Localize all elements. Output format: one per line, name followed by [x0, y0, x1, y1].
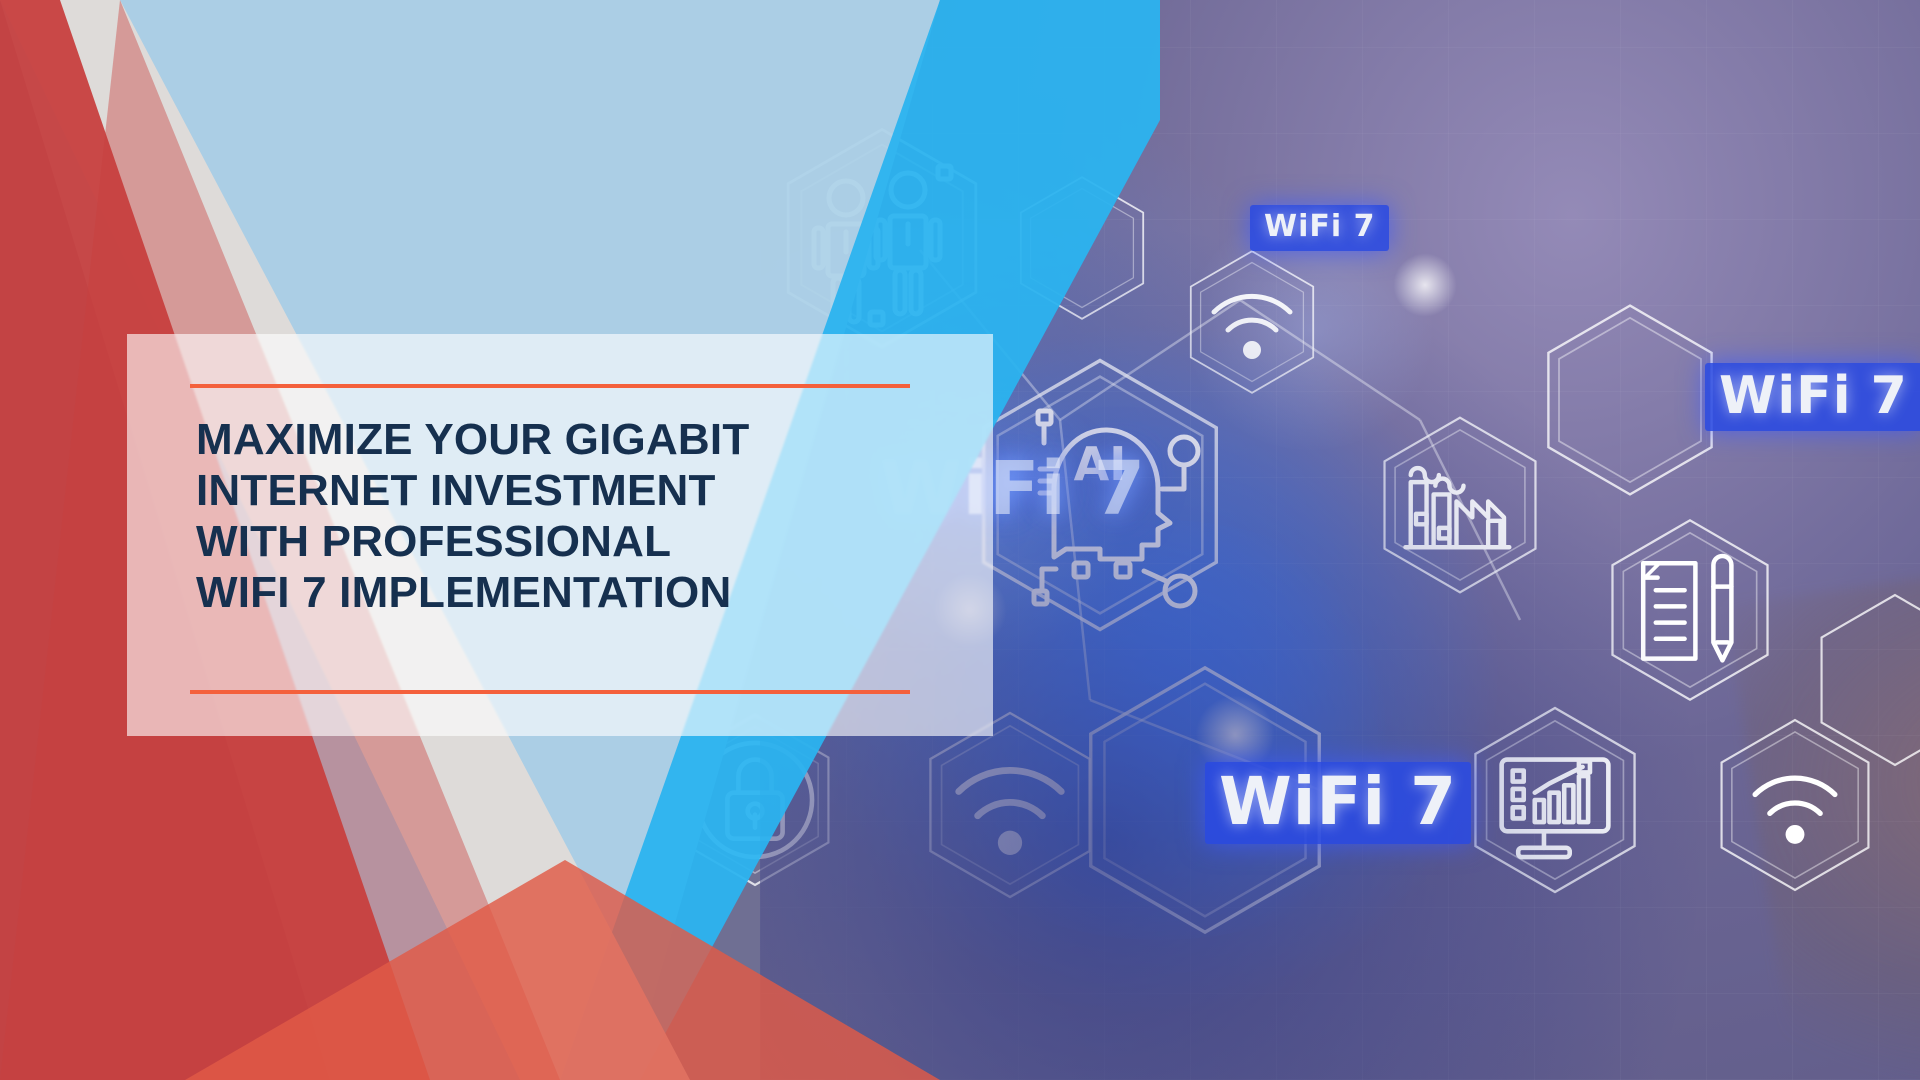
- hex-chart: [1475, 708, 1634, 892]
- hand-photo: [1727, 519, 1920, 1080]
- accent-rule-bottom: [190, 690, 910, 694]
- chart-monitor-icon: [1502, 760, 1609, 858]
- wifi7-badge-top: WiFi 7: [1250, 205, 1389, 251]
- headline-line-4: WIFI 7 IMPLEMENTATION: [196, 567, 956, 618]
- hex-wifi-signal-top: [1191, 251, 1313, 393]
- hex-document: [1612, 520, 1767, 699]
- headline-line-3: WITH PROFESSIONAL: [196, 516, 956, 567]
- document-pen-icon: [1643, 556, 1731, 660]
- wifi7-badge-main: WiFi 7: [1205, 762, 1471, 844]
- headline-line-2: INTERNET INVESTMENT: [196, 465, 956, 516]
- wifi7-badge-right: WiFi 7: [1705, 363, 1920, 431]
- factory-icon: [1405, 468, 1509, 547]
- page-title: MAXIMIZE YOUR GIGABIT INTERNET INVESTMEN…: [196, 414, 956, 618]
- banner-canvas: AI: [0, 0, 1920, 1080]
- hex-wifi7-right: [1548, 306, 1711, 495]
- hex-wifi-signal-right: [1722, 720, 1869, 890]
- hex-partial-right: [1822, 595, 1920, 765]
- accent-rule-top: [190, 384, 910, 388]
- wifi-signal-icon: [1214, 296, 1290, 359]
- wifi-signal-icon: [1755, 778, 1835, 844]
- headline-line-1: MAXIMIZE YOUR GIGABIT: [196, 414, 956, 465]
- sparkle-2: [1390, 250, 1460, 320]
- hex-factory: [1385, 418, 1536, 593]
